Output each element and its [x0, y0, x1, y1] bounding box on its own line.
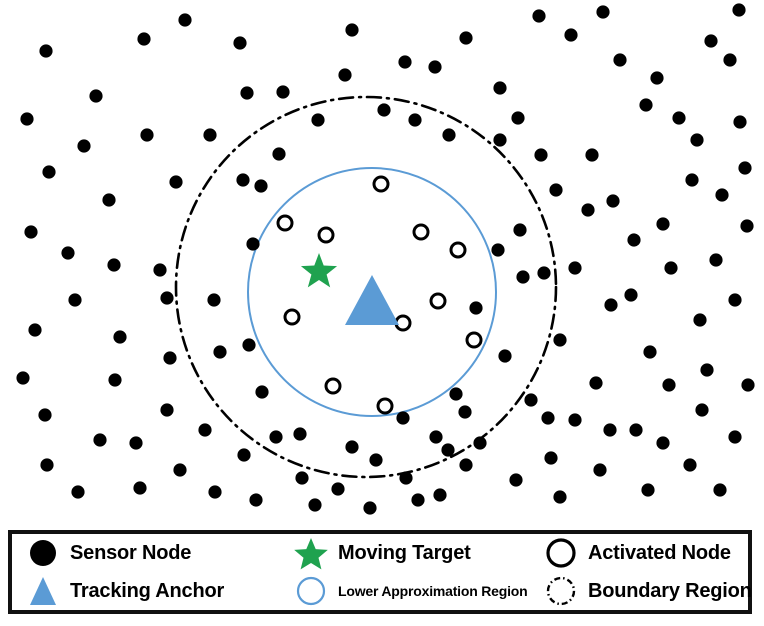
legend-item-boundary-region: Boundary Region: [534, 574, 752, 608]
sensor-node: [516, 270, 529, 283]
activated-node: [414, 225, 428, 239]
sensor-node: [408, 113, 421, 126]
sensor-node: [449, 387, 462, 400]
activated-node: [431, 294, 445, 308]
sensor-nodes-layer: [16, 3, 754, 514]
sensor-node: [693, 313, 706, 326]
legend-label-lower-approximation-region: Lower Approximation Region: [338, 583, 528, 599]
activated-node: [396, 316, 410, 330]
sensor-node: [233, 36, 246, 49]
legend-label-moving-target: Moving Target: [338, 542, 471, 565]
sensor-node: [68, 293, 81, 306]
sensor-node: [345, 23, 358, 36]
sensor-node: [293, 427, 306, 440]
legend-label-sensor-node: Sensor Node: [70, 542, 191, 565]
tracking-anchor-triangle: [345, 275, 399, 325]
legend-label-boundary-region: Boundary Region: [588, 580, 752, 603]
sensor-node: [541, 411, 554, 424]
activated-node: [467, 333, 481, 347]
activated-node: [319, 228, 333, 242]
legend-row-2: Tracking Anchor Lower Approximation Regi…: [12, 572, 748, 610]
sensor-node: [493, 81, 506, 94]
sensor-node: [690, 133, 703, 146]
sensor-node: [163, 351, 176, 364]
sensor-node: [276, 85, 289, 98]
sensor-node: [24, 225, 37, 238]
sensor-node: [411, 493, 424, 506]
sensor-node: [581, 203, 594, 216]
sensor-node: [568, 261, 581, 274]
sensor-node: [428, 60, 441, 73]
sensor-node: [596, 5, 609, 18]
sensor-node: [473, 436, 486, 449]
sensor-node: [549, 183, 562, 196]
sensor-node: [442, 128, 455, 141]
sensor-node: [544, 451, 557, 464]
sensor-node: [272, 147, 285, 160]
sensor-node: [42, 165, 55, 178]
sensor-node: [700, 363, 713, 376]
open-circle-icon: [534, 536, 588, 570]
legend-label-activated-node: Activated Node: [588, 542, 731, 565]
sensor-node: [429, 430, 442, 443]
sensor-node: [396, 411, 409, 424]
sensor-node: [491, 243, 504, 256]
sensor-node: [524, 393, 537, 406]
sensor-node: [160, 291, 173, 304]
sensor-node: [178, 13, 191, 26]
sensor-node: [345, 440, 358, 453]
sensor-node: [604, 298, 617, 311]
sensor-node: [553, 333, 566, 346]
sensor-node: [16, 371, 29, 384]
activated-node: [451, 243, 465, 257]
sensor-node: [40, 458, 53, 471]
sensor-node: [311, 113, 324, 126]
sensor-node: [624, 288, 637, 301]
sensor-node: [433, 488, 446, 501]
sensor-node: [564, 28, 577, 41]
legend-item-tracking-anchor: Tracking Anchor: [16, 574, 284, 608]
sensor-node: [89, 89, 102, 102]
sensor-node: [709, 253, 722, 266]
sensor-node: [685, 173, 698, 186]
sensor-node: [715, 188, 728, 201]
legend-box: Sensor Node Moving Target Activated Node: [8, 530, 752, 614]
sensor-node: [295, 471, 308, 484]
sensor-node: [237, 448, 250, 461]
sensor-node: [369, 453, 382, 466]
sensor-node: [656, 217, 669, 230]
sensor-node: [459, 31, 472, 44]
sensor-node: [398, 55, 411, 68]
dash-dot-circle-icon: [534, 574, 588, 608]
activated-node: [285, 310, 299, 324]
legend-item-sensor-node: Sensor Node: [16, 536, 284, 570]
sensor-node: [738, 161, 751, 174]
sensor-node: [532, 9, 545, 22]
sensor-node: [338, 68, 351, 81]
sensor-node: [269, 430, 282, 443]
sensor-node: [732, 3, 745, 16]
sensor-node: [656, 436, 669, 449]
legend-item-activated-node: Activated Node: [534, 536, 752, 570]
legend-row-1: Sensor Node Moving Target Activated Node: [12, 534, 748, 572]
sensor-node: [71, 485, 84, 498]
sensor-node: [672, 111, 685, 124]
sensor-node: [173, 463, 186, 476]
sensor-node: [641, 483, 654, 496]
sensor-node: [593, 463, 606, 476]
sensor-node: [246, 237, 259, 250]
legend-item-lower-approximation-region: Lower Approximation Region: [284, 574, 534, 608]
sensor-node: [585, 148, 598, 161]
sensor-node: [213, 345, 226, 358]
filled-circle-icon: [16, 536, 70, 570]
figure-root: Sensor Node Moving Target Activated Node: [0, 0, 764, 626]
sensor-node: [363, 501, 376, 514]
sensor-node: [639, 98, 652, 111]
sensor-node: [93, 433, 106, 446]
sensor-node: [741, 378, 754, 391]
tracking-anchor-marker: [345, 275, 399, 325]
sensor-node: [137, 32, 150, 45]
sensor-node: [627, 233, 640, 246]
sensor-node: [240, 86, 253, 99]
sensor-node: [254, 179, 267, 192]
sensor-node: [713, 483, 726, 496]
sensor-node: [107, 258, 120, 271]
sensor-node: [38, 408, 51, 421]
moving-target-marker: [301, 253, 337, 287]
sensor-node: [493, 133, 506, 146]
sensor-node: [153, 263, 166, 276]
sensor-node: [20, 112, 33, 125]
sensor-node: [589, 376, 602, 389]
sensor-node: [459, 458, 472, 471]
sensor-node: [140, 128, 153, 141]
activated-node: [326, 379, 340, 393]
sensor-node: [331, 482, 344, 495]
sensor-node: [728, 293, 741, 306]
sensor-node: [113, 330, 126, 343]
sensor-node: [255, 385, 268, 398]
sensor-node: [208, 485, 221, 498]
blue-open-circle-icon: [284, 574, 338, 608]
sensor-node: [613, 53, 626, 66]
sensor-node: [695, 403, 708, 416]
sensor-node: [469, 301, 482, 314]
sensor-node: [207, 293, 220, 306]
sensor-node: [458, 405, 471, 418]
sensor-node: [77, 139, 90, 152]
sensor-node: [108, 373, 121, 386]
sensor-node: [39, 44, 52, 57]
sensor-node: [553, 490, 566, 503]
sensor-node: [728, 430, 741, 443]
sensor-node: [643, 345, 656, 358]
sensor-node: [28, 323, 41, 336]
sensor-node: [662, 378, 675, 391]
blue-triangle-icon: [16, 574, 70, 608]
sensor-node: [242, 338, 255, 351]
activated-node: [374, 177, 388, 191]
sensor-node: [509, 473, 522, 486]
activated-node: [278, 216, 292, 230]
sensor-node: [129, 436, 142, 449]
moving-target-star: [301, 253, 337, 287]
sensor-node: [160, 403, 173, 416]
sensor-node: [249, 493, 262, 506]
sensor-node: [733, 115, 746, 128]
sensor-node: [399, 471, 412, 484]
sensor-node: [740, 219, 753, 232]
sensor-node: [102, 193, 115, 206]
sensor-node: [377, 103, 390, 116]
legend-item-moving-target: Moving Target: [284, 536, 534, 570]
sensor-node: [198, 423, 211, 436]
sensor-node: [236, 173, 249, 186]
sensor-node: [568, 413, 581, 426]
sensor-node: [704, 34, 717, 47]
sensor-node: [683, 458, 696, 471]
sensor-node: [629, 423, 642, 436]
sensor-node: [534, 148, 547, 161]
sensor-node: [441, 443, 454, 456]
sensor-node: [723, 53, 736, 66]
sensor-node: [650, 71, 663, 84]
sensor-node: [606, 194, 619, 207]
sensor-node: [133, 481, 146, 494]
green-star-icon: [284, 536, 338, 570]
sensor-node: [537, 266, 550, 279]
sensor-node: [308, 498, 321, 511]
legend-label-tracking-anchor: Tracking Anchor: [70, 580, 224, 603]
sensor-node: [603, 423, 616, 436]
sensor-node: [498, 349, 511, 362]
sensor-node: [169, 175, 182, 188]
activated-node: [378, 399, 392, 413]
sensor-node: [203, 128, 216, 141]
sensor-node: [664, 261, 677, 274]
sensor-node: [61, 246, 74, 259]
sensor-node: [513, 223, 526, 236]
sensor-node: [511, 111, 524, 124]
